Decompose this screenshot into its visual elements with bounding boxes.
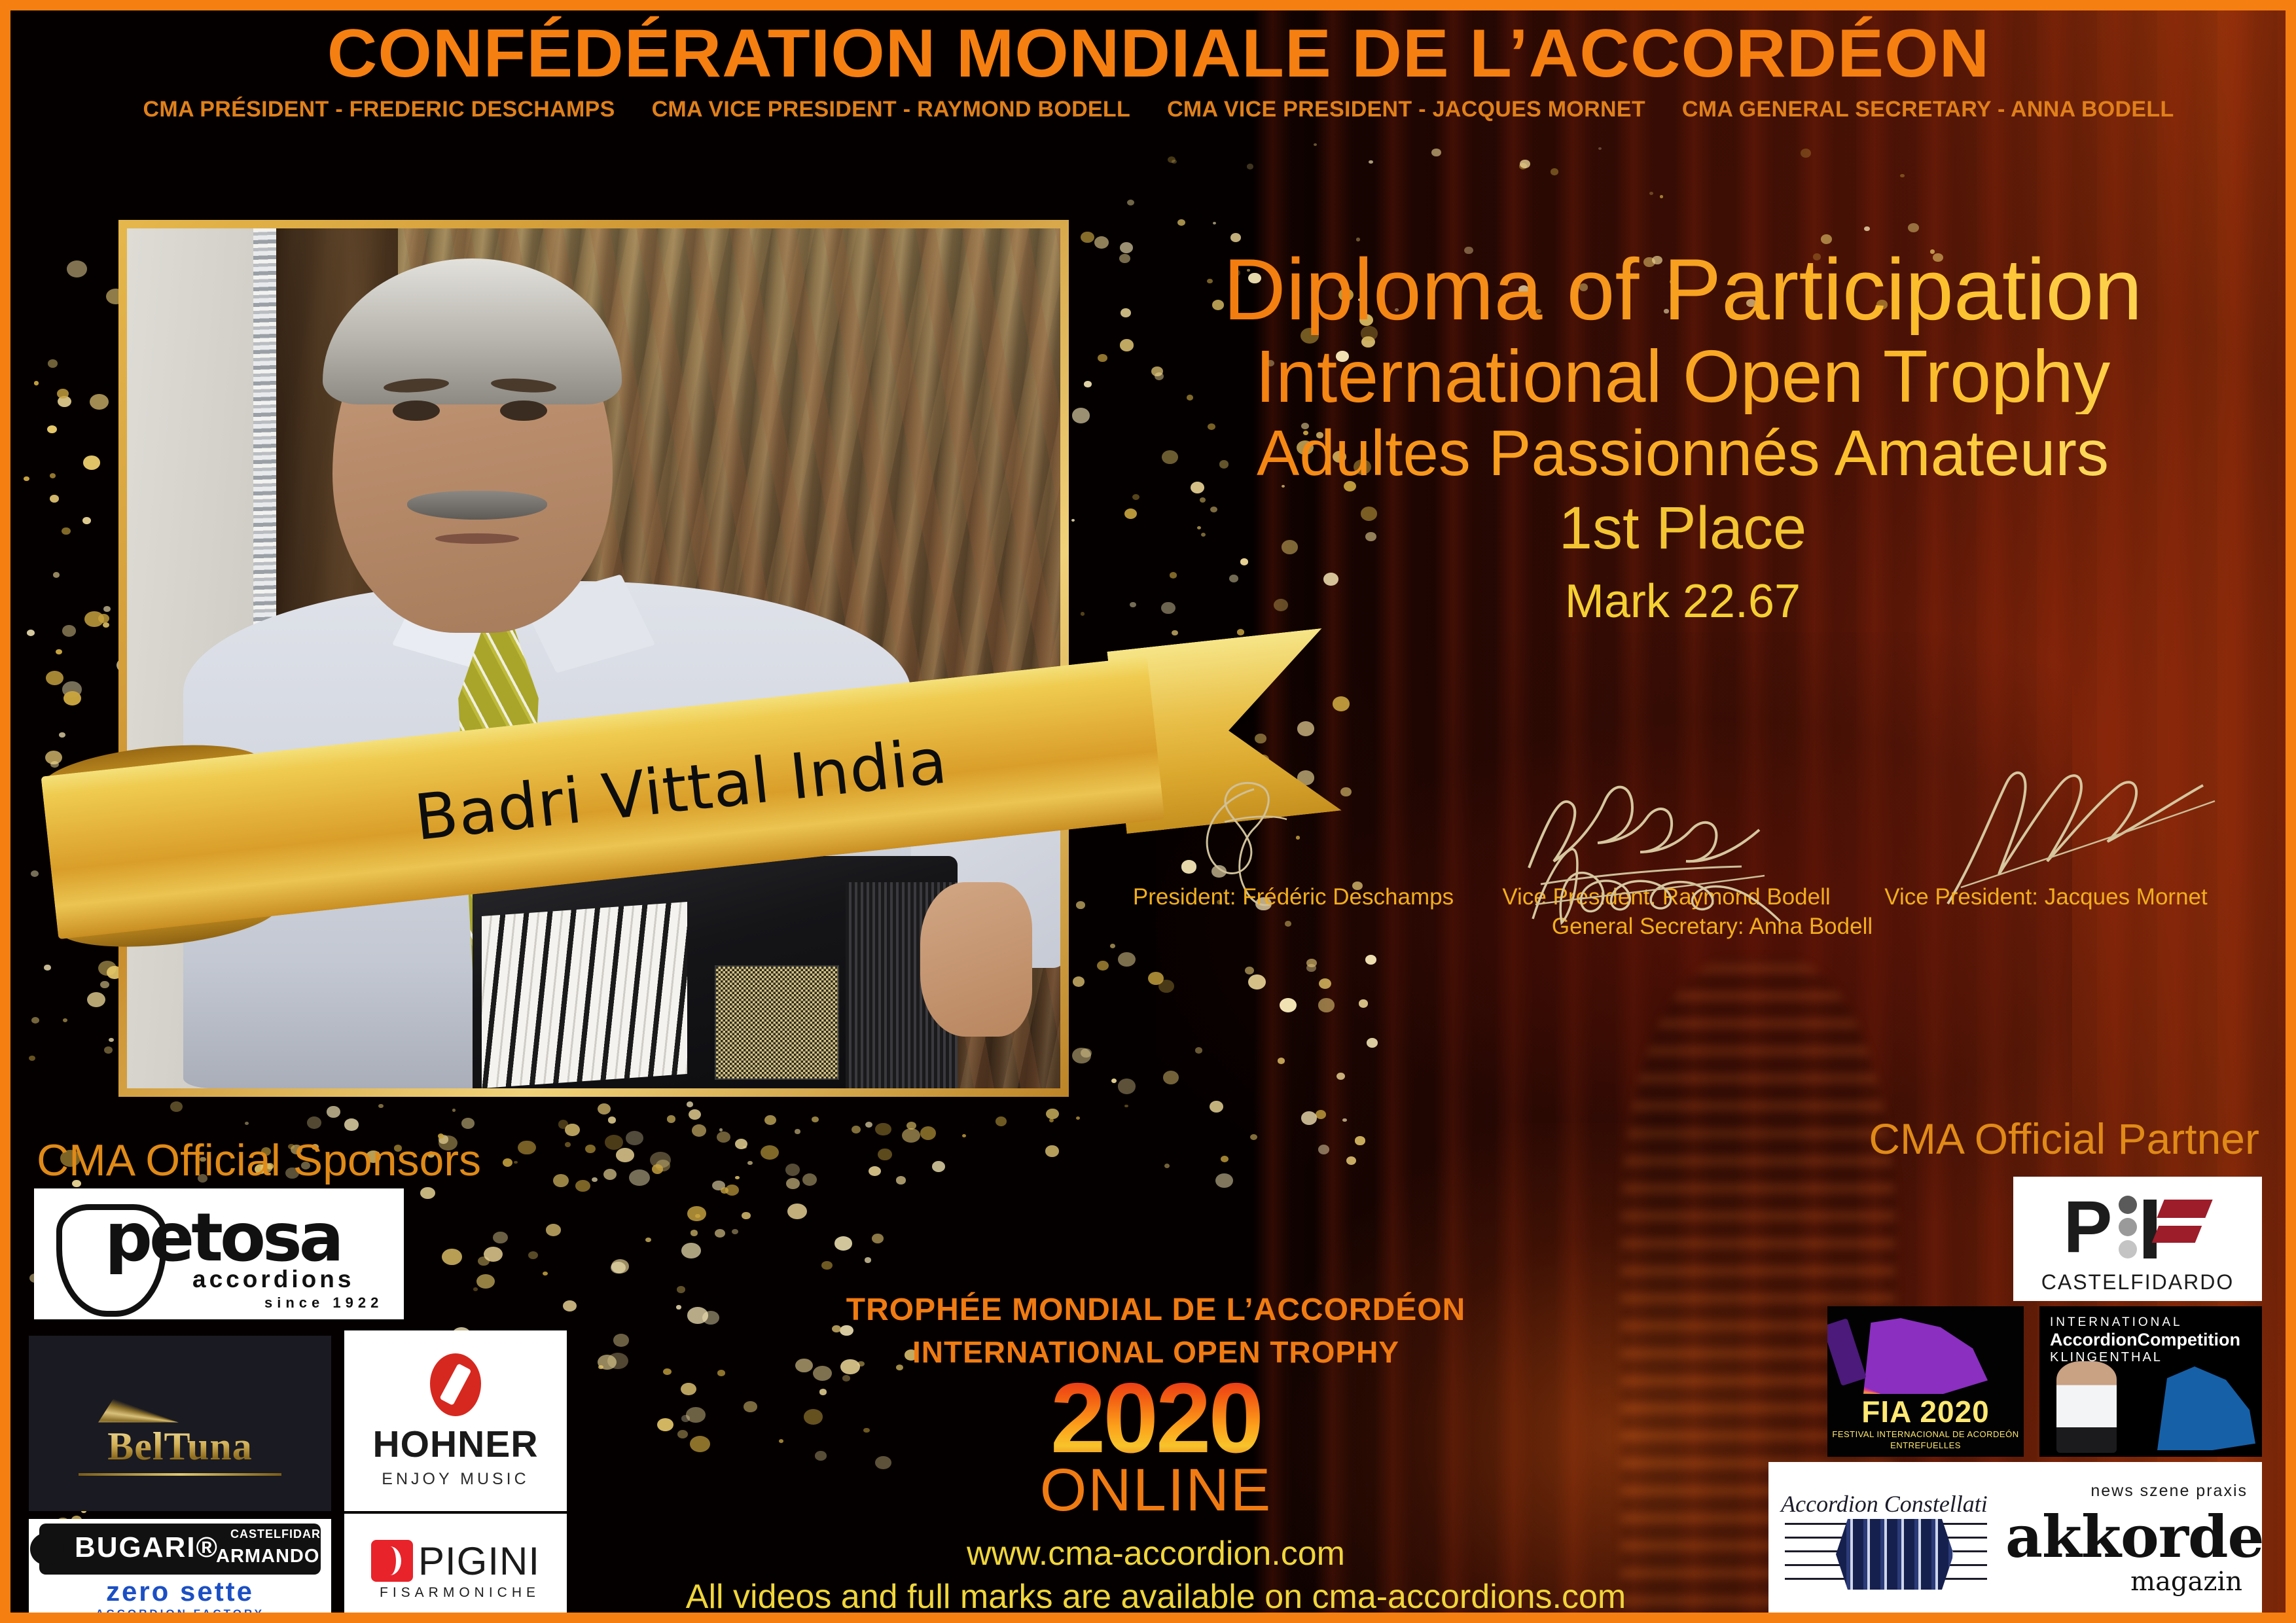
hohner-wordmark: HOHNER	[372, 1423, 538, 1466]
klingenthal-line-1: INTERNATIONAL	[2050, 1315, 2240, 1330]
sponsors-heading: CMA Official Sponsors	[37, 1135, 481, 1186]
award-place: 1st Place	[1097, 498, 2269, 558]
award-text-block: Diploma of Participation International O…	[1097, 246, 2269, 625]
partner-logo-klingenthal[interactable]: INTERNATIONAL AccordionCompetition KLING…	[2039, 1306, 2262, 1457]
officer-vice-president-2: CMA VICE PRESIDENT - JACQUES MORNET	[1167, 97, 1645, 122]
signature-label-vp1-cell: Vice President: Raymond Bodell	[1483, 884, 1850, 910]
officers-list: CMA PRÉSIDENT - FREDERIC DESCHAMPS CMA V…	[10, 97, 2296, 122]
accordion-constellation-bellows-icon	[1836, 1519, 1954, 1590]
photo-eye-left	[393, 401, 439, 421]
bugari-city: CASTELFIDARDO	[230, 1527, 331, 1541]
officer-vice-president-1: CMA VICE PRESIDENT - RAYMOND BODELL	[652, 97, 1130, 122]
pigini-tagline: FISARMONICHE	[371, 1585, 540, 1601]
footer-block: TROPHÉE MONDIAL DE L’ACCORDÉON INTERNATI…	[665, 1292, 1647, 1616]
fia-wordmark: FIA 2020	[1827, 1394, 2024, 1429]
pigini-wordmark: PIGINI	[418, 1539, 540, 1584]
partner-logo-fia-2020[interactable]: FIA 2020 FESTIVAL INTERNACIONAL DE ACORD…	[1827, 1306, 2024, 1457]
zero-sette-tagline: ACCORDION FACTORY	[29, 1607, 331, 1620]
recipient-photo	[127, 228, 1060, 1088]
akkordeon-tagline: news szene praxis	[2090, 1482, 2248, 1501]
photo-eye-right	[500, 401, 547, 421]
header: CONFÉDÉRATION MONDIALE DE L’ACCORDÉON CM…	[10, 20, 2296, 122]
organisation-title: CONFÉDÉRATION MONDIALE DE L’ACCORDÉON	[0, 20, 2296, 88]
officer-general-secretary: CMA GENERAL SECRETARY - ANNA BODELL	[1682, 97, 2174, 122]
bugari-plate-icon: BUGARI® CASTELFIDARDO ARMANDO	[39, 1524, 321, 1575]
signatures-row-2: General Secretary: Anna Bodell	[1477, 914, 1948, 940]
pif-dots-icon	[2119, 1196, 2137, 1258]
petosa-subtitle: accordions	[192, 1266, 354, 1293]
fia-keyboard-icon	[1827, 1318, 1867, 1386]
award-title: Diploma of Participation	[1097, 246, 2269, 335]
footer-website-url[interactable]: www.cma-accordion.com	[665, 1534, 1647, 1573]
signature-label-president-cell: President: Frédéric Deschamps	[1123, 884, 1463, 910]
accordion-constellation-staff-icon	[1785, 1523, 2007, 1586]
klingenthal-rainbow-fan-icon	[2157, 1366, 2255, 1450]
akkordeon-wordmark: akkordeon	[2005, 1503, 2262, 1571]
bugari-armando-wordmark: ARMANDO	[216, 1546, 319, 1567]
petosa-since: since 1922	[264, 1294, 383, 1311]
recipient-photo-frame	[118, 220, 1069, 1097]
pif-letter-p: P	[2064, 1194, 2113, 1260]
signature-label-general-secretary: General Secretary: Anna Bodell	[1477, 914, 1948, 940]
photo-accordion-keys	[482, 902, 687, 1088]
footer-note: All videos and full marks are available …	[665, 1577, 1647, 1616]
partner-logo-accordion-constellation[interactable]: Accordion Constellation	[1768, 1462, 2024, 1614]
beltuna-fan-icon	[98, 1372, 262, 1423]
photo-accordion-grille	[715, 965, 838, 1080]
fia-fan-icon	[1863, 1318, 1988, 1394]
sponsor-logo-beltuna[interactable]: BelTuna	[29, 1336, 331, 1511]
akkordeon-subtitle: magazin	[2130, 1567, 2242, 1597]
signature-label-vice-president-2: Vice President: Jacques Mornet	[1863, 884, 2229, 910]
signature-label-vp2-cell: Vice President: Jacques Mornet	[1863, 884, 2229, 910]
accordion-constellation-wordmark: Accordion Constellation	[1768, 1490, 2024, 1518]
sponsor-logo-hohner[interactable]: HOHNER ENJOY MUSIC	[344, 1330, 567, 1511]
fia-subtitle-2: ENTREFUELLES	[1827, 1440, 2024, 1452]
klingenthal-line-2: AccordionCompetition	[2050, 1330, 2240, 1350]
sponsor-logo-pigini[interactable]: PIGINI FISARMONICHE	[344, 1514, 567, 1623]
zero-sette-wordmark: zero sette	[29, 1576, 331, 1607]
footer-year: 2020	[665, 1368, 1647, 1468]
klingenthal-player-photo	[2056, 1361, 2117, 1453]
footer-mode: ONLINE	[665, 1456, 1647, 1525]
fia-subtitle-1: FESTIVAL INTERNACIONAL DE ACORDEÓN	[1827, 1429, 2024, 1440]
partner-logo-akkordeon-magazin[interactable]: news szene praxis akkordeon magazin	[1987, 1462, 2262, 1614]
officer-president: CMA PRÉSIDENT - FREDERIC DESCHAMPS	[143, 97, 615, 122]
award-event: International Open Trophy	[1097, 339, 2269, 414]
award-mark: Mark 22.67	[1097, 578, 2269, 625]
photo-hand	[920, 882, 1032, 1037]
partners-heading: CMA Official Partner	[1869, 1114, 2259, 1164]
partner-logo-pif-castelfidardo[interactable]: P CASTELFIDARDO	[2013, 1177, 2262, 1301]
beltuna-rule	[79, 1473, 281, 1476]
sponsor-logo-petosa[interactable]: petosa accordions since 1922	[34, 1188, 404, 1319]
footer-line-1: TROPHÉE MONDIAL DE L’ACCORDÉON	[665, 1292, 1647, 1328]
award-category: Adultes Passionnés Amateurs	[1097, 421, 2269, 486]
sponsor-logo-bugari-armando[interactable]: BUGARI® CASTELFIDARDO ARMANDO zero sette…	[29, 1519, 331, 1622]
signatures-row-1: President: Frédéric Deschamps Vice Presi…	[1123, 783, 2275, 914]
hohner-figure-icon	[430, 1353, 481, 1416]
signature-label-president: President: Frédéric Deschamps	[1123, 884, 1463, 910]
diploma-certificate: CONFÉDÉRATION MONDIALE DE L’ACCORDÉON CM…	[0, 0, 2296, 1623]
bugari-wordmark: BUGARI®	[75, 1531, 219, 1564]
pigini-sound-icon	[371, 1540, 413, 1582]
pif-city: CASTELFIDARDO	[2013, 1270, 2262, 1294]
signature-label-vice-president-1: Vice President: Raymond Bodell	[1483, 884, 1850, 910]
beltuna-wordmark: BelTuna	[79, 1424, 281, 1469]
hohner-tagline: ENJOY MUSIC	[372, 1470, 538, 1489]
pif-letter-f-icon	[2144, 1196, 2212, 1258]
